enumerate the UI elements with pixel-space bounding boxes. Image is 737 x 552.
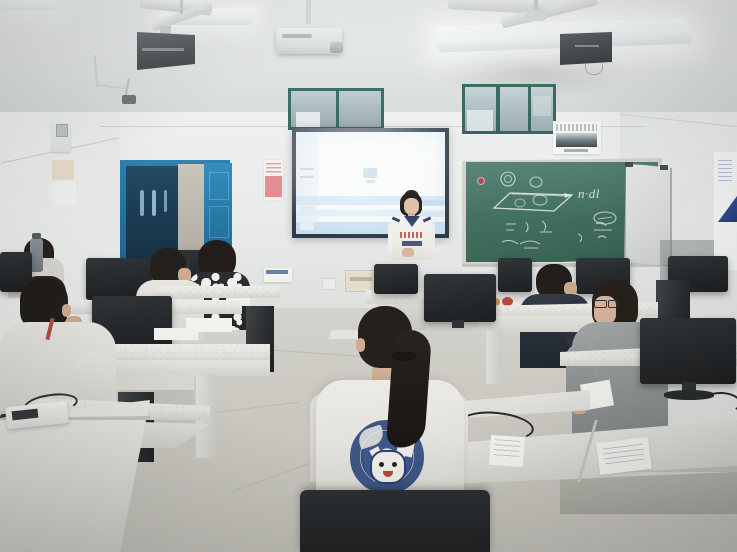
sign-subtext bbox=[564, 149, 588, 152]
door-panel bbox=[209, 206, 229, 238]
notice-text-lines bbox=[266, 163, 281, 174]
ceiling-fan-rod bbox=[180, 0, 183, 14]
wall-paper-notice bbox=[52, 160, 74, 180]
equipment-box-label bbox=[266, 270, 288, 274]
hair-tie bbox=[392, 352, 416, 361]
projector-lens bbox=[330, 42, 343, 53]
monitor bbox=[374, 264, 418, 294]
door-panel bbox=[209, 172, 229, 200]
notice-color-block bbox=[265, 176, 282, 197]
speaker-grille bbox=[142, 48, 184, 51]
tshirt-cat-eye bbox=[379, 462, 384, 467]
fluorescent-light-left bbox=[0, 0, 60, 10]
presenter-hands bbox=[402, 248, 414, 257]
whiteboard-clip bbox=[660, 165, 668, 170]
window-reflection bbox=[533, 96, 551, 116]
glasses-icon bbox=[594, 300, 607, 308]
monitor bbox=[498, 258, 532, 292]
desk-leg bbox=[486, 330, 502, 384]
paper-sheet bbox=[154, 328, 198, 340]
speaker-grille bbox=[575, 45, 599, 47]
poster-text-lines bbox=[718, 160, 732, 182]
presenter-shirt-graphic bbox=[400, 232, 424, 238]
wall-speaker-right bbox=[560, 32, 612, 65]
chalk-circle-sketches bbox=[496, 170, 576, 214]
ceiling-fan-rod bbox=[534, 0, 538, 10]
board-magnet bbox=[478, 178, 484, 184]
glasses-icon bbox=[608, 300, 618, 308]
speaker-mount bbox=[160, 26, 171, 34]
wall-microphone bbox=[122, 95, 136, 104]
chair-foreground bbox=[300, 490, 490, 552]
bottle-cap bbox=[32, 233, 41, 239]
chalk-text-annotation: n·dl bbox=[578, 186, 600, 202]
sign-caption-text bbox=[556, 124, 597, 131]
window-mullion bbox=[496, 87, 500, 131]
paper-text-lines bbox=[493, 439, 520, 459]
door-handle[interactable] bbox=[152, 190, 156, 216]
presenter-shirt-graphic bbox=[402, 241, 422, 246]
monitor-stand bbox=[452, 320, 464, 328]
wall-paper-notice bbox=[52, 182, 76, 206]
door-handle[interactable] bbox=[164, 190, 167, 212]
fruit bbox=[502, 297, 513, 306]
chalk-formula-notes bbox=[500, 216, 630, 260]
control-panel-screen bbox=[56, 124, 68, 137]
door-handle[interactable] bbox=[140, 190, 144, 216]
wall-switch[interactable] bbox=[322, 278, 336, 290]
window-reflection bbox=[296, 112, 320, 127]
monitor bbox=[640, 318, 736, 384]
cable-coil bbox=[700, 392, 737, 414]
student-left-front-ear bbox=[62, 304, 71, 317]
monitor bbox=[424, 274, 496, 322]
projector-vent bbox=[282, 34, 312, 38]
sign-photo bbox=[556, 133, 597, 147]
wall-speaker-left bbox=[137, 32, 195, 70]
window-mullion bbox=[528, 87, 531, 131]
window-reflection bbox=[467, 110, 493, 131]
tshirt-cat-face bbox=[372, 452, 404, 482]
window-mullion bbox=[336, 91, 339, 127]
classroom-photo: n·dl bbox=[0, 0, 737, 552]
tshirt-cat-eye bbox=[392, 462, 397, 467]
student-left-front-arm bbox=[74, 352, 116, 400]
student-foreground-ear bbox=[356, 338, 365, 352]
outlet-socket[interactable] bbox=[350, 277, 372, 281]
whiteboard-clip bbox=[625, 162, 633, 167]
